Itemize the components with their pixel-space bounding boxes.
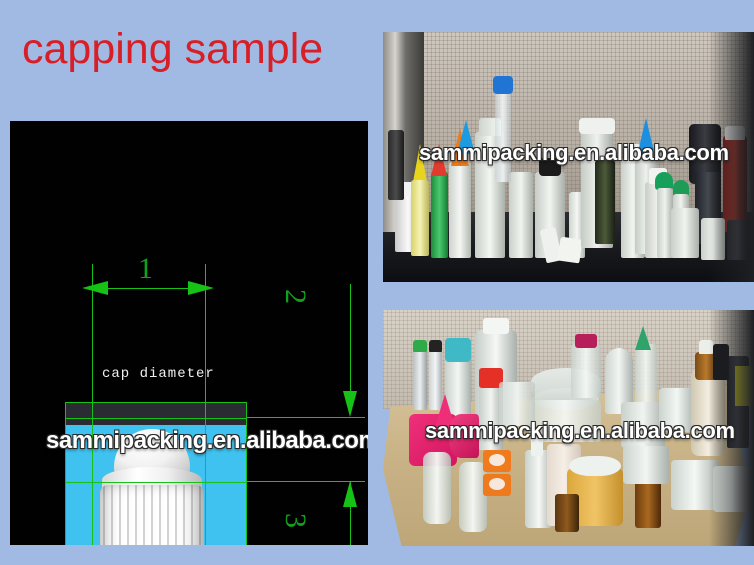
green-cap-3 (413, 340, 427, 352)
photo-bottles-on-dark-bench: sammipacking.en.alibaba.com (383, 32, 754, 282)
back-bottle (571, 344, 601, 398)
clear-front-bottle-2 (459, 462, 487, 532)
page-title: capping sample (22, 26, 323, 72)
dimension-number-2: 2 (280, 289, 310, 304)
bottle-dark (388, 130, 404, 200)
cap-ribs (100, 485, 204, 545)
slide-canvas: capping sample 1 cap diameter 2 3 cap he… (0, 0, 754, 565)
black-cap-2 (429, 340, 442, 352)
clear-bottle (413, 348, 427, 410)
cap-measurement-diagram: 1 cap diameter 2 3 cap height (10, 121, 368, 545)
arrow-left-icon (82, 281, 108, 295)
arrow-up-icon (343, 481, 357, 507)
green-cone-icon (635, 326, 651, 350)
teal-cap (445, 338, 471, 362)
bottle-olive (595, 160, 615, 244)
watermark-photo-top: sammipacking.en.alibaba.com (419, 140, 729, 166)
amber-vial-2 (635, 478, 661, 528)
watermark-diagram: sammipacking.en.alibaba.com (46, 427, 368, 455)
large-bottle-cap (483, 318, 509, 334)
bottle-clear-tall (495, 92, 511, 182)
bottle-green (431, 172, 448, 258)
inner-guide-line-1 (66, 418, 246, 419)
honey-jar-lid (569, 456, 621, 476)
inner-guide-line-v2 (205, 403, 206, 545)
inner-guide-line-2 (66, 482, 246, 483)
photo-bottles-on-wood-table: sammipacking.en.alibaba.com (383, 310, 754, 546)
bottle-translucent (449, 162, 471, 258)
lying-bottle-2 (557, 237, 582, 264)
short-jar (671, 208, 699, 258)
inner-guide-line-v1 (92, 403, 93, 545)
white-jar-front (623, 446, 669, 484)
back-bottle-3 (635, 344, 657, 406)
blue-cap (493, 76, 513, 94)
clear-front-bottle (423, 452, 451, 524)
arrow-down-icon (343, 391, 357, 417)
orange-cap-inner (489, 454, 505, 466)
orange-cap-inner-2 (489, 478, 505, 490)
cap-diameter-label: cap diameter (102, 366, 215, 382)
arrow-right-icon (188, 281, 214, 295)
jar-cap (579, 118, 615, 134)
cap-photo (65, 402, 247, 545)
magenta-cap (575, 334, 597, 348)
dimension-number-1: 1 (138, 254, 153, 284)
bottle-yellow (411, 180, 429, 256)
dimension-number-3: 3 (280, 513, 310, 528)
bottle-small (509, 172, 533, 258)
watermark-photo-bottom: sammipacking.en.alibaba.com (425, 418, 735, 444)
amber-vial (555, 494, 579, 532)
